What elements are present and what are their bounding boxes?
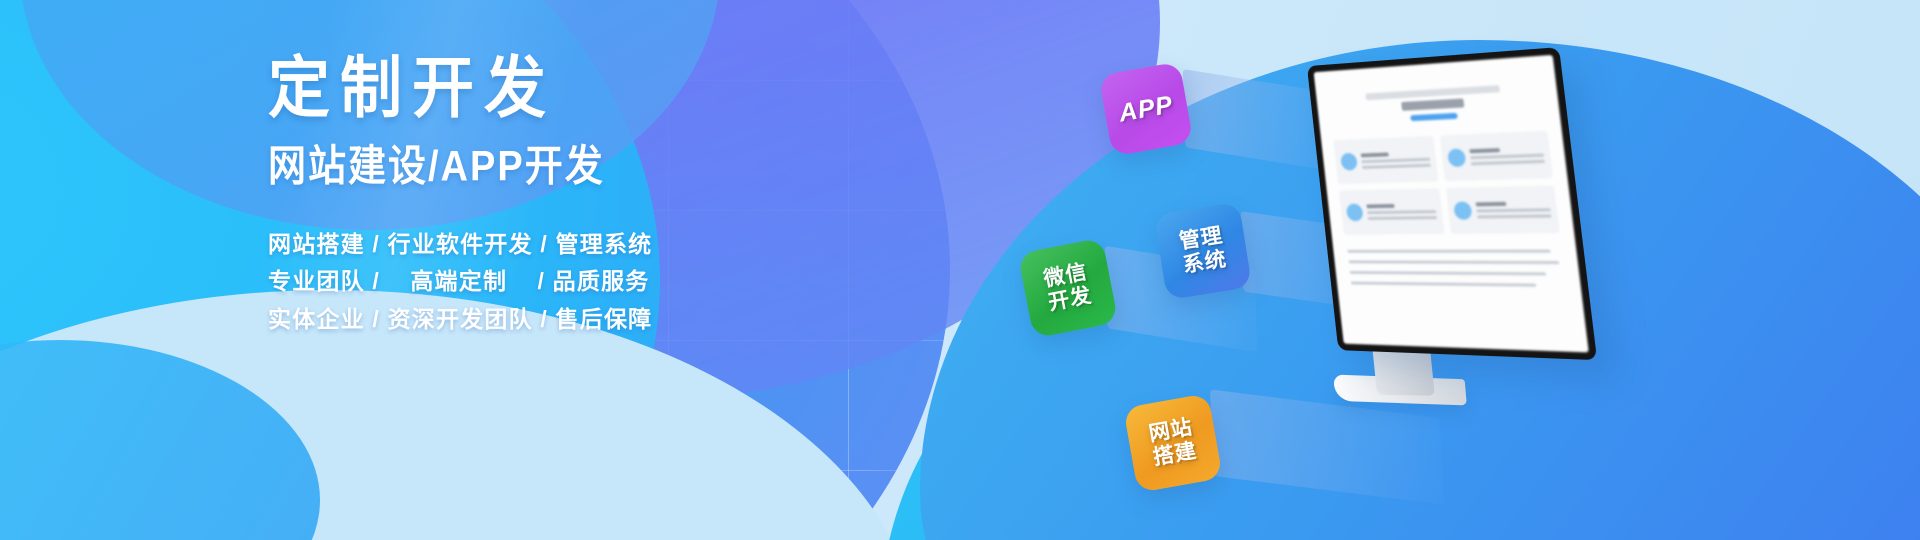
mock-card-text [1365,194,1437,228]
copy-block: 定制开发 网站建设/APP开发 网站搭建 / 行业软件开发 / 管理系统 专业团… [268,56,908,338]
mock-card-icon [1340,153,1358,171]
monitor-screen-content [1314,55,1589,353]
promo-banner: 定制开发 网站建设/APP开发 网站搭建 / 行业软件开发 / 管理系统 专业团… [0,0,1920,540]
mock-card [1333,136,1438,184]
feature-point: 网站搭建 / 行业软件开发 / 管理系统 [268,226,908,263]
feature-points-list: 网站搭建 / 行业软件开发 / 管理系统 专业团队 / 高端定制 / 品质服务 … [268,226,908,338]
service-card-app-label: APP [1117,90,1175,127]
mock-page-subheading [1401,98,1464,110]
mock-card-icon [1346,204,1364,222]
mock-heading-underline [1410,113,1459,121]
mock-paragraph [1332,233,1581,287]
service-card-website-building[interactable]: 网站 搭建 [1123,393,1223,493]
mock-card-grid [1321,130,1574,235]
service-card-management-system[interactable]: 管理 系统 [1154,202,1252,300]
page-subtitle: 网站建设/APP开发 [268,146,908,189]
mock-card [1339,188,1444,234]
mock-card-text [1474,192,1553,228]
mock-card-text [1360,142,1432,178]
service-card-wechat-development[interactable]: 微信 开发 [1018,238,1119,339]
mock-page-heading [1365,85,1500,100]
service-card-app[interactable]: APP [1099,62,1194,157]
monitor-illustration [1310,55,1640,475]
page-title: 定制开发 [268,56,908,123]
feature-point: 专业团队 / 高端定制 / 品质服务 [268,263,908,300]
mock-card-text [1468,137,1546,174]
mock-card [1439,131,1553,181]
feature-point: 实体企业 / 资深开发团队 / 售后保障 [268,301,908,338]
monitor-frame [1307,47,1597,360]
mock-card [1445,185,1559,233]
mock-card-icon [1453,202,1472,220]
mock-card-icon [1447,149,1466,168]
